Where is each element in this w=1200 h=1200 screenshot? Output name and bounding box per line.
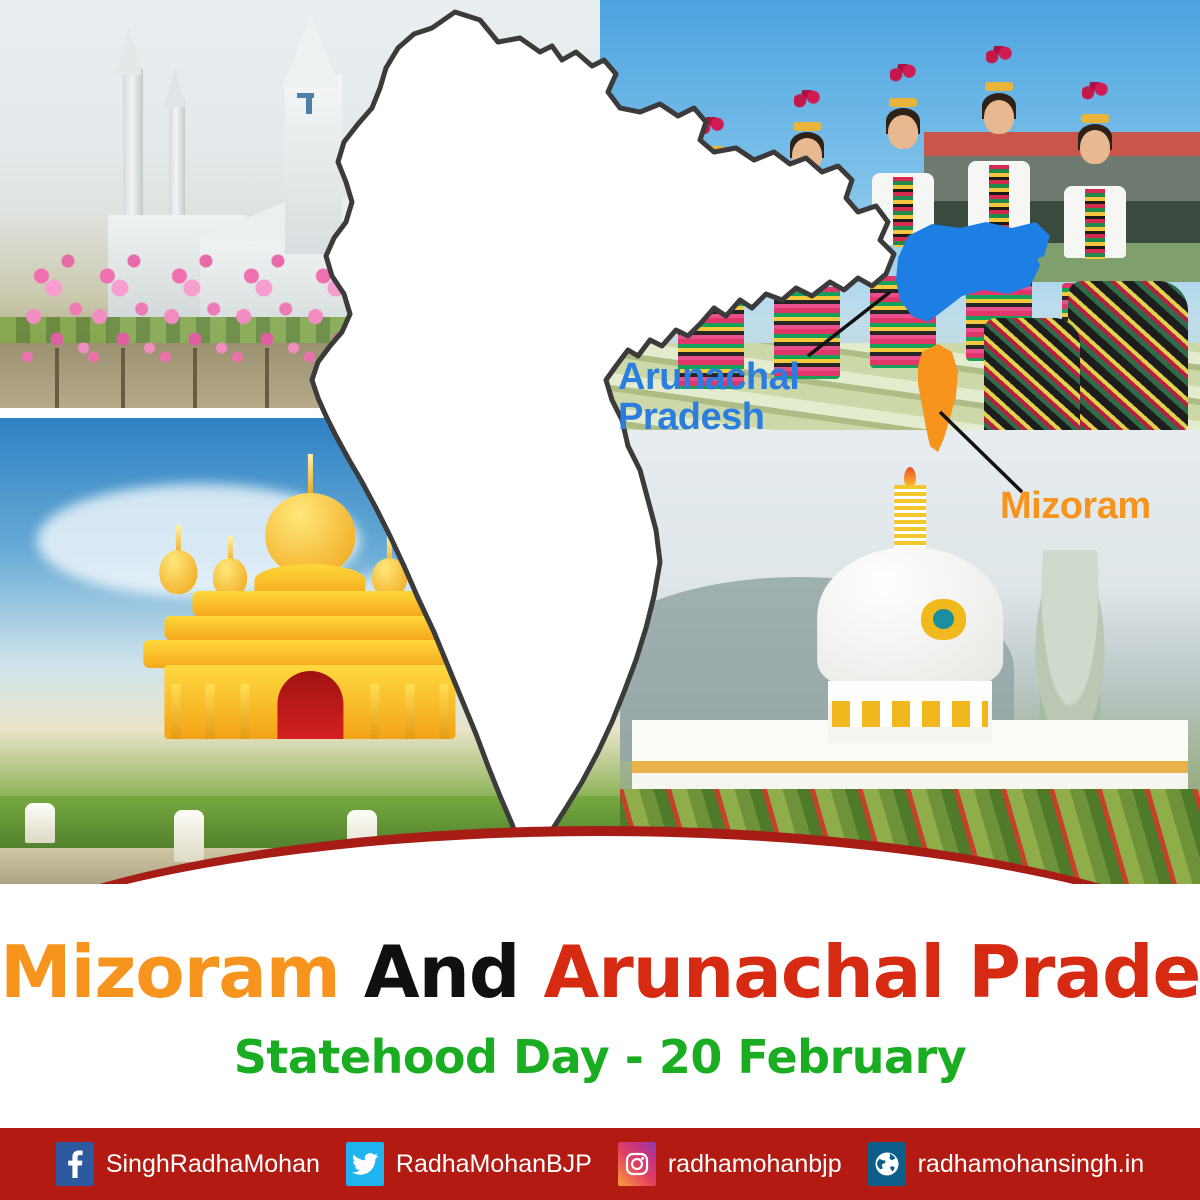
website-handle[interactable]: radhamohansingh.in	[918, 1150, 1145, 1179]
blossom-tree	[432, 264, 510, 384]
arunachal-label: Arunachal Pradesh	[618, 358, 799, 438]
stupa-structure	[817, 485, 1003, 743]
social-website[interactable]: radhamohansingh.in	[868, 1142, 1145, 1186]
twitter-icon[interactable]	[346, 1142, 384, 1186]
mizoram-label: Mizoram	[1000, 487, 1151, 527]
blossom-tree	[84, 234, 162, 384]
instagram-icon[interactable]	[618, 1142, 656, 1186]
social-twitter[interactable]: RadhaMohanBJP	[346, 1142, 592, 1186]
social-instagram[interactable]: radhamohanbjp	[618, 1142, 842, 1186]
photo-collage: Arunachal Pradesh Mizoram	[0, 0, 1200, 890]
seated-performer	[984, 318, 1080, 436]
facebook-handle[interactable]: SinghRadhaMohan	[106, 1150, 320, 1179]
arunachal-label-line1: Arunachal	[618, 358, 799, 398]
seated-performer	[1068, 281, 1188, 431]
social-facebook[interactable]: SinghRadhaMohan	[56, 1142, 320, 1186]
arunachal-label-line2: Pradesh	[618, 398, 799, 438]
instagram-handle[interactable]: radhamohanbjp	[668, 1150, 842, 1179]
twitter-handle[interactable]: RadhaMohanBJP	[396, 1150, 592, 1179]
temple-structure	[136, 465, 483, 739]
social-footer: SinghRadhaMohan RadhaMohanBJP radhamohan…	[0, 1128, 1200, 1200]
blossom-tree	[228, 234, 306, 384]
lion-statue	[174, 810, 204, 862]
subtitle: Statehood Day - 20 February	[0, 1014, 1200, 1084]
title-part-mizoram: Mizoram	[0, 930, 340, 1014]
title-block: Mizoram And Arunachal Pradesh Statehood …	[0, 880, 1200, 1140]
website-icon[interactable]	[868, 1142, 906, 1186]
church-photo	[0, 0, 600, 408]
title-part-and: And	[364, 930, 520, 1014]
dancer-figure	[864, 70, 942, 413]
poster-canvas: Arunachal Pradesh Mizoram Mizoram And Ar…	[0, 0, 1200, 1200]
facebook-icon[interactable]	[56, 1142, 94, 1186]
blossom-tree	[156, 234, 234, 384]
page-title: Mizoram And Arunachal Pradesh	[0, 880, 1200, 1014]
tree	[1033, 550, 1107, 740]
title-part-arunachal: Arunachal Pradesh	[544, 930, 1200, 1014]
golden-temple-photo	[0, 418, 620, 890]
lion-statue	[25, 803, 55, 843]
